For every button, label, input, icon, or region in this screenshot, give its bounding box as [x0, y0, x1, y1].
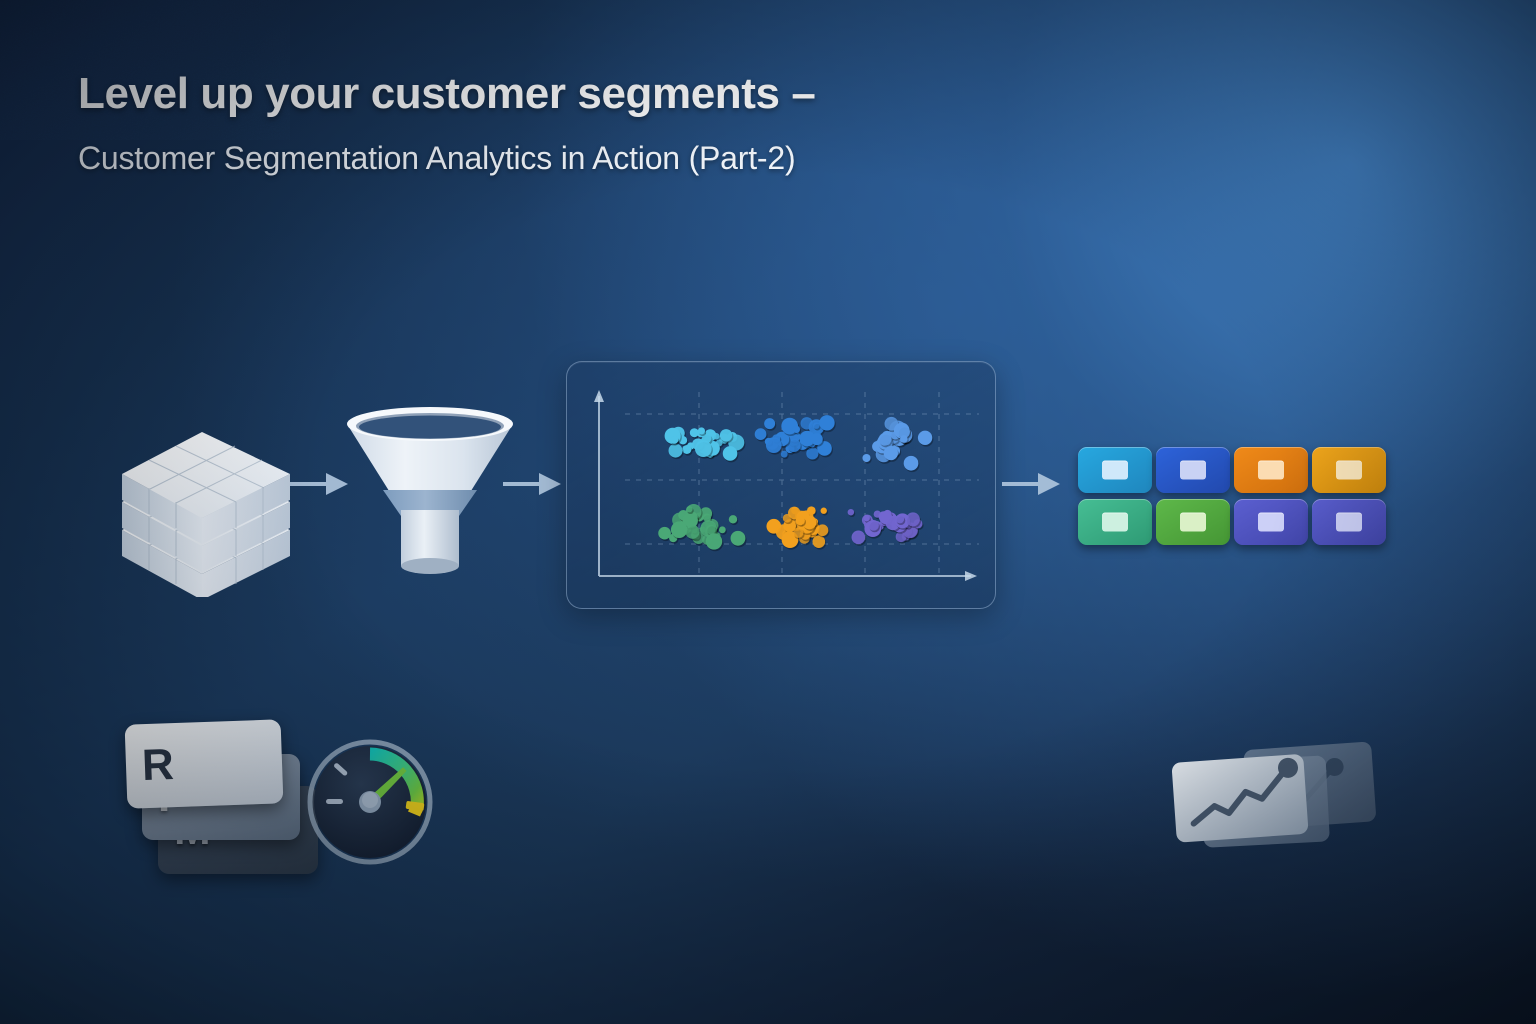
arrow-plot-to-tiles	[1002, 468, 1066, 505]
funnel-icon	[335, 398, 525, 588]
segment-tile-5[interactable]	[1078, 499, 1152, 545]
tile-chip	[1258, 461, 1284, 480]
poster-canvas: Level up your customer segments – Custom…	[0, 0, 1536, 1024]
tile-chip	[1102, 513, 1128, 532]
tile-chip	[1336, 461, 1362, 480]
page-subtitle: Customer Segmentation Analytics in Actio…	[78, 142, 1078, 174]
cluster-scatter-panel	[566, 361, 996, 609]
tile-chip	[1180, 513, 1206, 532]
score-gauge-icon	[302, 736, 446, 870]
segment-tile-1[interactable]	[1078, 447, 1152, 493]
tile-chip	[1102, 461, 1128, 480]
headline-block: Level up your customer segments – Custom…	[78, 72, 1078, 174]
segment-tile-7[interactable]	[1234, 499, 1308, 545]
cluster-scatter-plot	[567, 362, 996, 609]
segment-tiles-grid	[1078, 447, 1386, 545]
segment-tile-3[interactable]	[1234, 447, 1308, 493]
segment-tile-8[interactable]	[1312, 499, 1386, 545]
page-title: Level up your customer segments –	[78, 72, 1078, 116]
arrow-funnel-to-plot	[503, 468, 567, 505]
tile-chip	[1258, 513, 1284, 532]
segment-tile-6[interactable]	[1156, 499, 1230, 545]
tile-chip	[1180, 461, 1206, 480]
tile-chip	[1336, 513, 1362, 532]
dashboard-reports-icon	[1166, 736, 1386, 868]
rfm-card-r: R	[125, 719, 284, 808]
data-cube-icon	[110, 432, 310, 597]
segment-tile-4[interactable]	[1312, 447, 1386, 493]
segment-tile-2[interactable]	[1156, 447, 1230, 493]
rfm-scoring-group: M F R	[124, 716, 464, 886]
